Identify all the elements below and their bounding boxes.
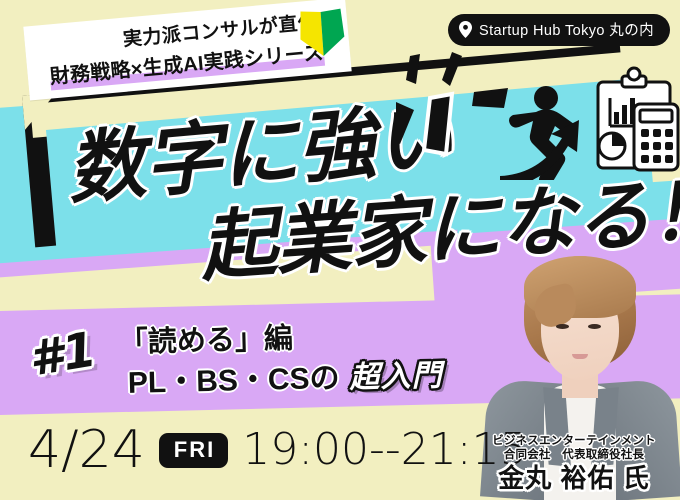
session-row: #1 「読める」編 PL・BS・CSの 超入門 [0, 289, 680, 414]
event-date: 4/24 [28, 424, 145, 476]
speaker-company-line1: ビジネスエンターテインメント [476, 434, 672, 448]
session-intro-emphasis: 超入門 [349, 350, 443, 396]
calculator-icon [634, 104, 678, 170]
headline-word-become: になる！ [422, 165, 680, 276]
icon-cluster [396, 50, 680, 180]
event-day-badge: FRI [159, 433, 228, 468]
session-statements-label: PL・BS・CSの [127, 353, 340, 402]
location-pin-icon [459, 21, 472, 38]
spark-burst-icon [396, 52, 508, 154]
session-number-badge: #1 [25, 321, 100, 387]
speaker-name: 金丸 裕佑 氏 [476, 464, 672, 494]
datetime-row: 4/24 FRI 19:00--21:15 [28, 424, 528, 476]
speaker-caption: ビジネスエンターテインメント 合同会社 代表取締役社長 金丸 裕佑 氏 [476, 434, 672, 494]
wakaba-leaf-icon [294, 2, 350, 61]
venue-label: Startup Hub Tokyo 丸の内 [479, 19, 654, 40]
session-subtitle-line2: PL・BS・CSの 超入門 [127, 350, 443, 402]
event-poster: 実力派コンサルが直伝 財務戦略×生成AI実践シリーズ Startup Hub T… [0, 0, 680, 500]
headline-word-entrepreneur: 起業家 [197, 186, 428, 291]
speaker-company-line2: 合同会社 代表取締役社長 [476, 448, 672, 463]
venue-pill[interactable]: Startup Hub Tokyo 丸の内 [448, 14, 670, 46]
